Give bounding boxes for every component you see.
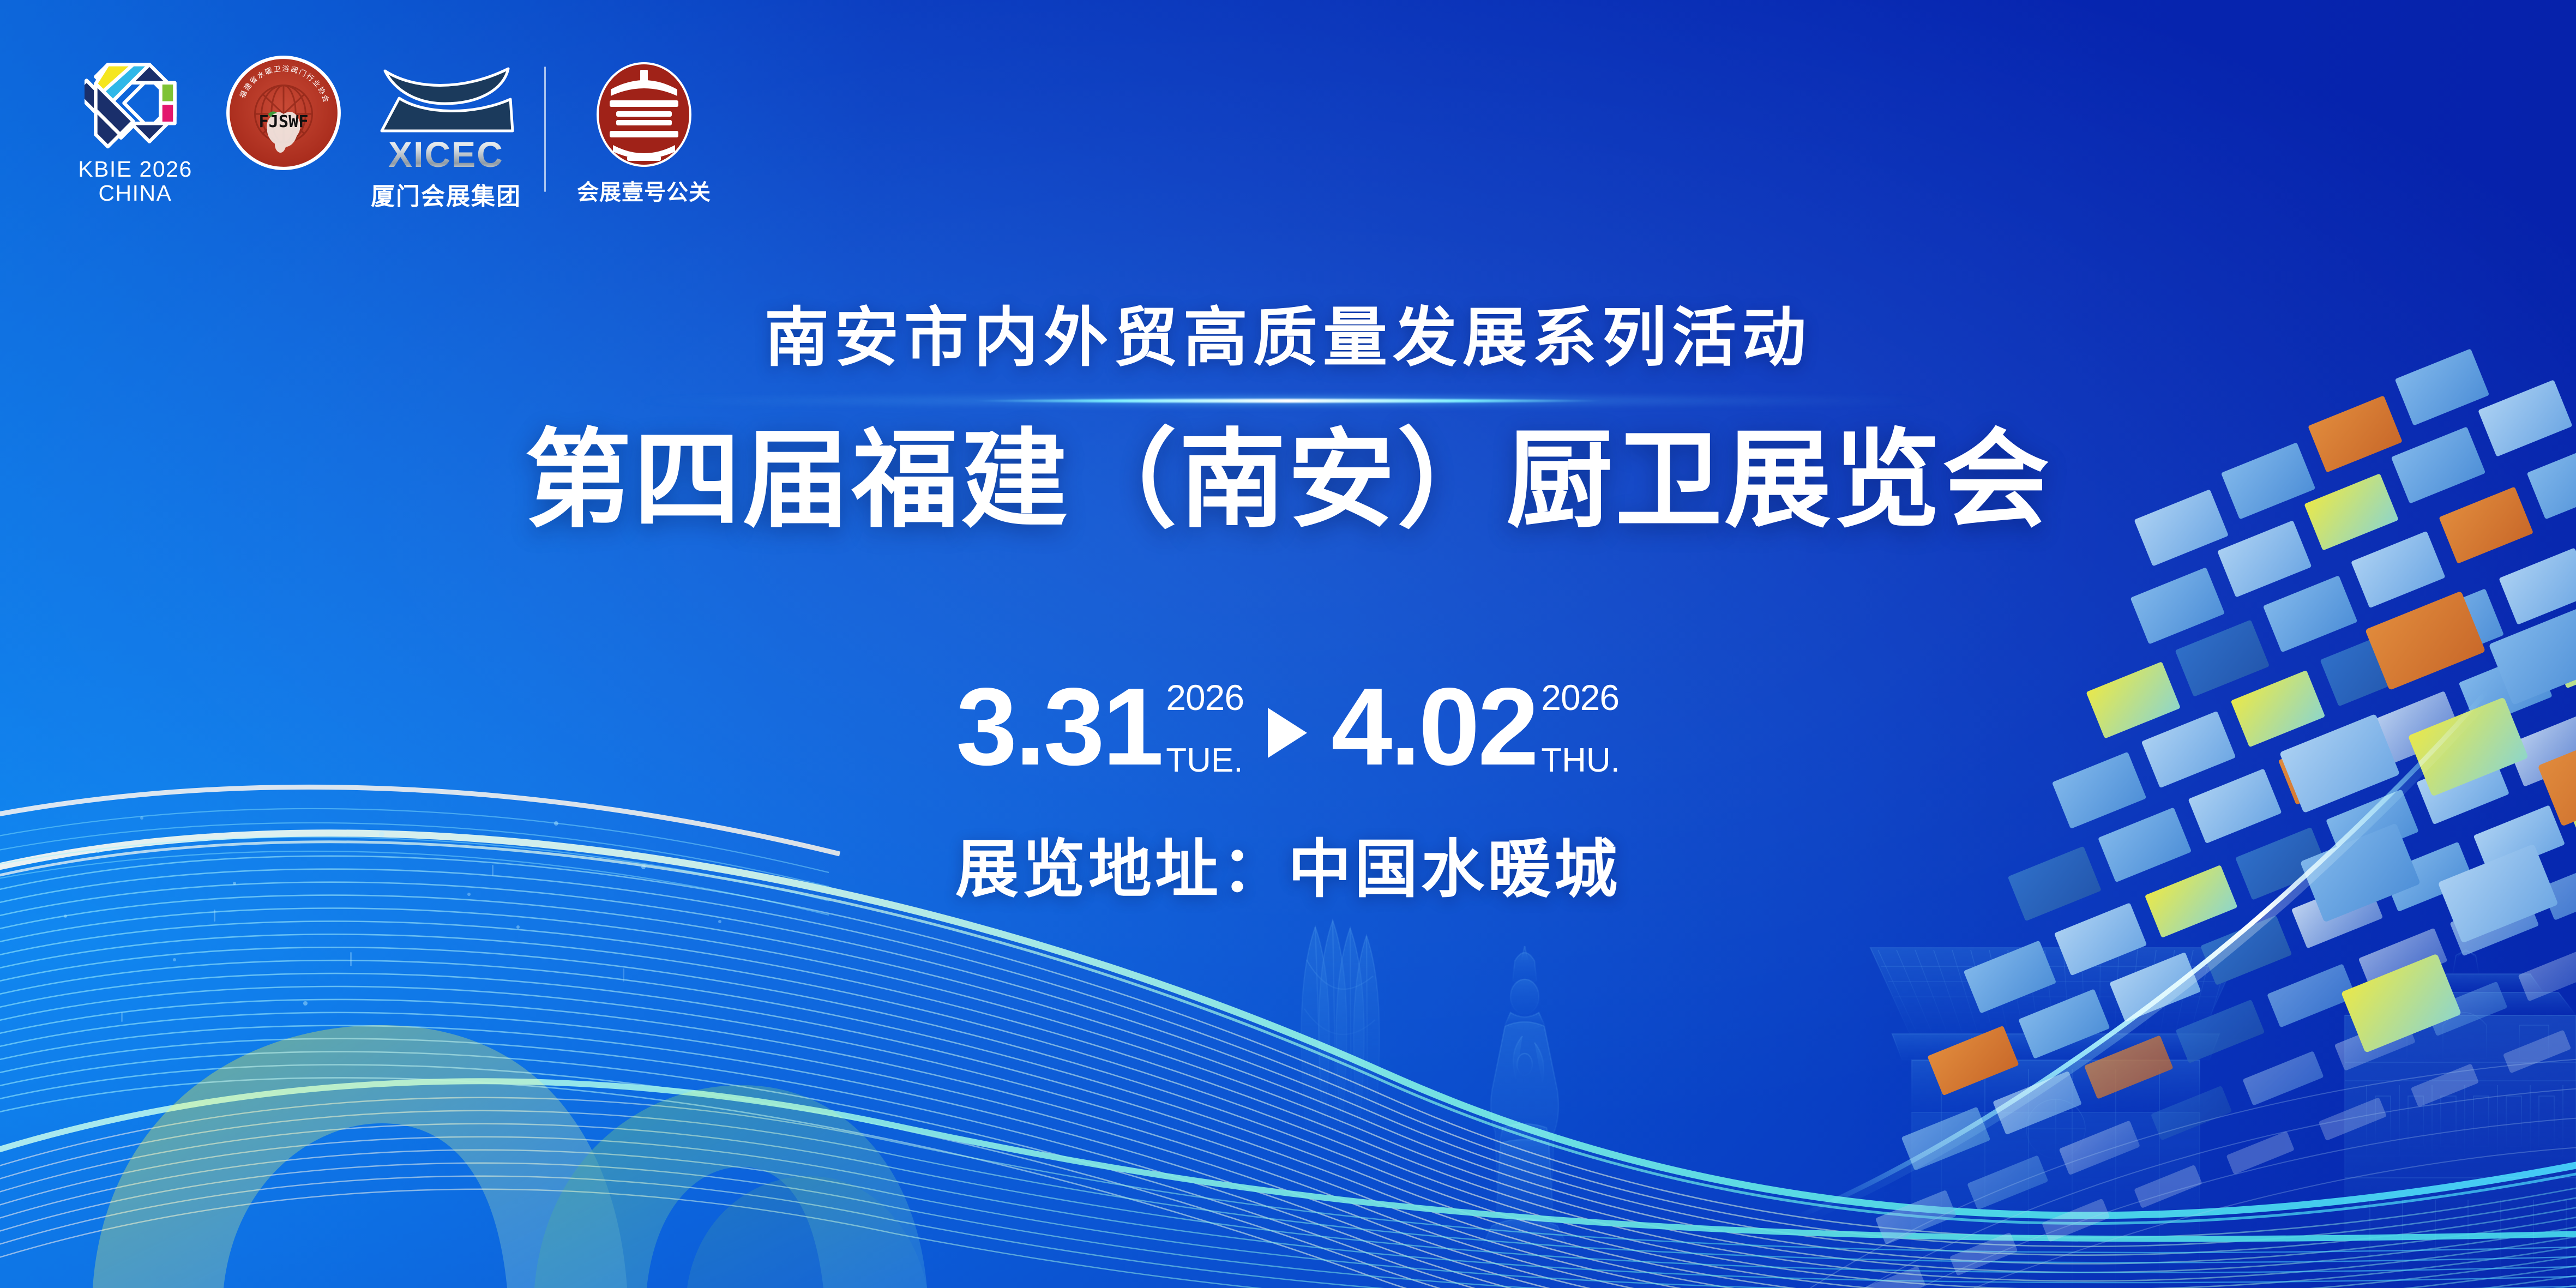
fjswf-center-text: FJSWF: [258, 112, 308, 131]
xicec-cn-text: 厦门会展集团: [371, 177, 521, 212]
page-title: 第四届福建（南安）厨卫展览会: [0, 425, 2576, 537]
start-date-weekday: TUE.: [1166, 744, 1244, 778]
start-date-year: 2026: [1166, 679, 1244, 715]
headline-block: 南安市内外贸高质量发展系列活动 第四届福建（南安）厨卫展览会: [0, 305, 2576, 537]
kbie-mark-icon: [85, 52, 186, 154]
kbie-logo-line1: KBIE 2026: [78, 157, 192, 182]
fjswf-seal-logo[interactable]: 福建省水暖卫浴阀门行业协会 FJSWF: [218, 52, 349, 173]
start-date-number: 3.31: [956, 676, 1161, 778]
kicker-text: 南安市内外贸高质量发展系列活动: [0, 305, 2576, 370]
huizhan-yihao-logo[interactable]: 会展壹号公关: [562, 52, 726, 206]
fjswf-seal-icon: 福建省水暖卫浴阀门行业协会 FJSWF: [223, 52, 344, 173]
huizhan-yihao-mark-icon: [594, 60, 694, 169]
huizhan-yihao-cn-text: 会展壹号公关: [577, 174, 711, 206]
end-date-weekday: THU.: [1541, 744, 1620, 778]
glow-divider-core: [972, 399, 1604, 403]
poster-canvas: KBIE 2026 CHINA: [0, 0, 2576, 1288]
start-date-side: 2026 TUE.: [1166, 676, 1244, 778]
xicec-mark-icon: [375, 65, 517, 135]
sponsor-logo-bar: KBIE 2026 CHINA: [64, 52, 726, 212]
venue-line: 展览地址：中国水暖城: [0, 818, 2576, 910]
end-date-number: 4.02: [1331, 676, 1537, 778]
kbie-logo-line2: CHINA: [78, 181, 192, 205]
xicec-logo[interactable]: XICEC 厦门会展集团: [364, 52, 528, 212]
end-date-side: 2026 THU.: [1541, 676, 1620, 778]
glow-divider: [628, 398, 1948, 404]
end-date: 4.02 2026 THU.: [1331, 676, 1620, 778]
kbie-logo[interactable]: KBIE 2026 CHINA: [64, 52, 206, 206]
logo-divider: [544, 67, 546, 192]
right-triangle-icon: [1268, 708, 1307, 758]
kbie-logo-text: KBIE 2026 CHINA: [78, 157, 192, 206]
xicec-en-text: XICEC: [388, 136, 504, 172]
date-range: 3.31 2026 TUE. 4.02 2026 THU.: [0, 676, 2576, 778]
end-date-year: 2026: [1541, 679, 1620, 715]
start-date: 3.31 2026 TUE.: [956, 676, 1244, 778]
